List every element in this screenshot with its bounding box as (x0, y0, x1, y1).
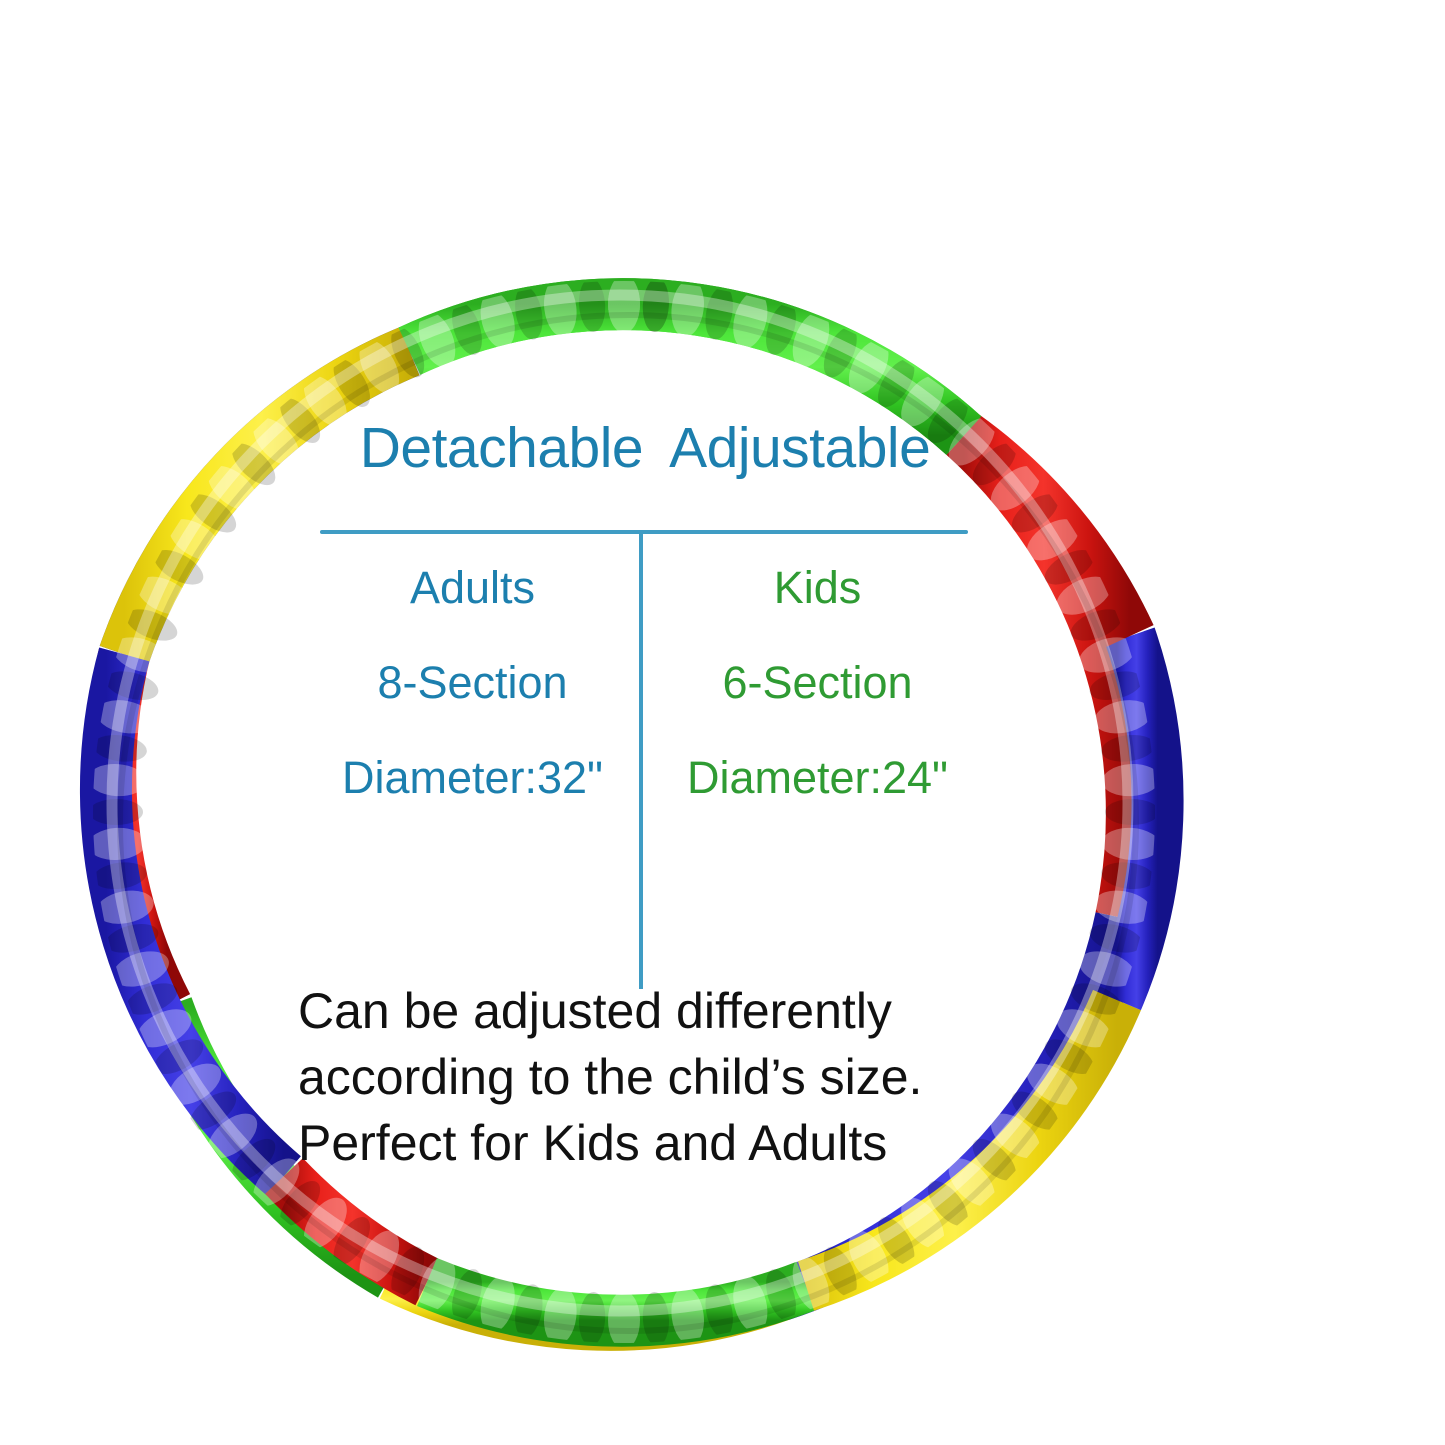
caption-line-2: according to the child’s size. (298, 1044, 998, 1110)
header-adjustable: Adjustable (669, 420, 930, 477)
caption-block: Can be adjusted differently according to… (298, 978, 998, 1176)
kids-audience: Kids (645, 565, 990, 610)
column-adults: Adults 8-Section Diameter:32" (300, 565, 645, 800)
product-infographic: Detachable Adjustable Adults 8-Section D… (0, 0, 1445, 1445)
caption-line-1: Can be adjusted differently (298, 978, 998, 1044)
kids-sections: 6-Section (645, 660, 990, 705)
header-detachable: Detachable (360, 420, 643, 477)
panel-columns: Adults 8-Section Diameter:32" Kids 6-Sec… (300, 565, 990, 800)
hoop-ripple (608, 275, 640, 333)
adults-diameter: Diameter:32" (300, 755, 645, 800)
caption-line-3: Perfect for Kids and Adults (298, 1110, 998, 1176)
kids-diameter: Diameter:24" (645, 755, 990, 800)
adults-audience: Adults (300, 565, 645, 610)
adults-sections: 8-Section (300, 660, 645, 705)
panel-headers: Detachable Adjustable (300, 420, 990, 477)
hoop-ripple (608, 1291, 640, 1349)
column-kids: Kids 6-Section Diameter:24" (645, 565, 990, 800)
panel-horizontal-divider (320, 530, 968, 534)
info-panel: Detachable Adjustable Adults 8-Section D… (300, 420, 990, 477)
